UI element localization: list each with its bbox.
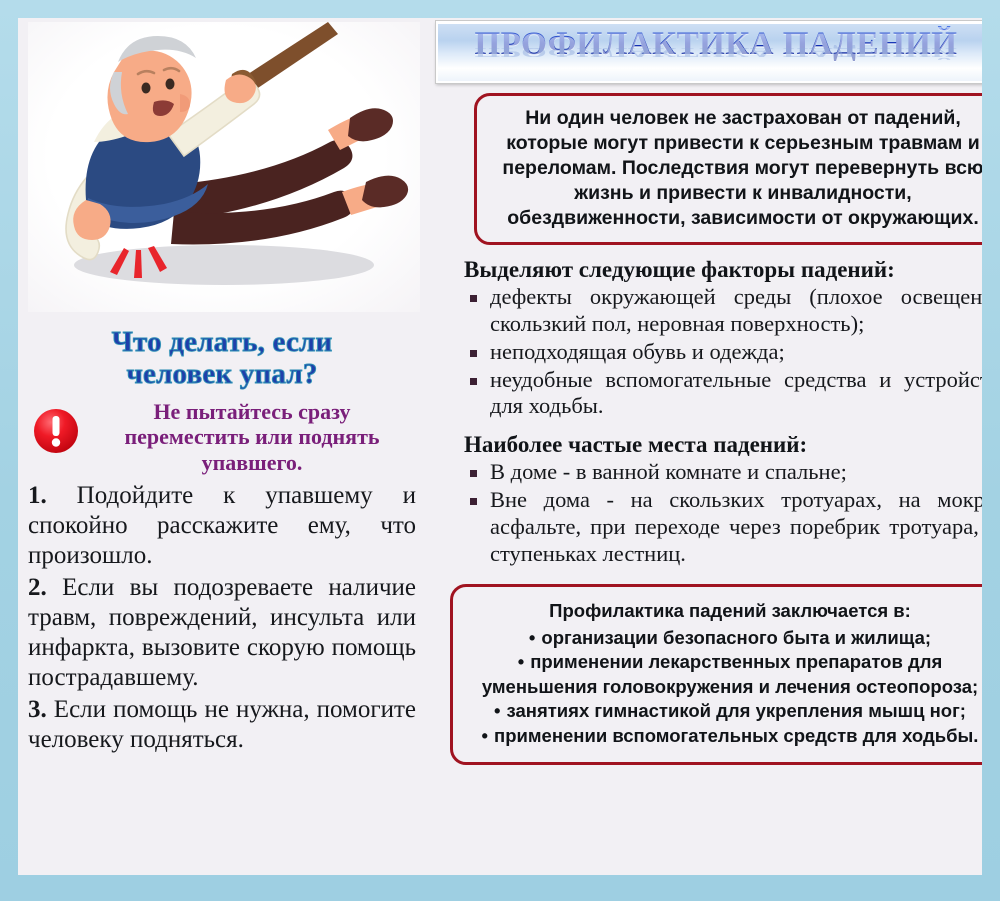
prevention-item: •применении вспомогательных средств для … — [463, 724, 982, 748]
factors-list: дефекты окружающей среды (плохое освещен… — [464, 284, 982, 420]
prevention-item: •применении лекарственных препаратов для… — [463, 650, 982, 699]
warning-text: Не пытайтесь сразу переместить или подня… — [88, 399, 416, 476]
prevention-item-text: организации безопасного быта и жилища; — [541, 627, 931, 648]
step-number: 1. — [28, 482, 47, 509]
step-text: Если помощь не нужна, помогите человеку … — [28, 696, 416, 753]
step-text: Подойдите к упавшему и спокойно расскажи… — [28, 482, 416, 569]
list-item: В доме - в ванной комнате и спальне; — [464, 459, 982, 486]
step-number: 3. — [28, 696, 47, 723]
intro-text: Ни один человек не застрахован от падени… — [491, 106, 982, 231]
bullet-marker: • — [482, 724, 488, 748]
bullet-marker: • — [529, 626, 535, 650]
poster-frame: Что делать, если человек упал? — [0, 0, 1000, 901]
step-text: Если вы подозреваете наличие травм, повр… — [28, 574, 416, 691]
left-column: Что делать, если человек упал? — [18, 18, 430, 875]
places-section: Наиболее частые места падений: В доме - … — [464, 432, 982, 568]
prevention-heading: Профилактика падений заключается в: — [463, 599, 982, 623]
step-item: 2. Если вы подозреваете наличие травм, п… — [28, 573, 416, 693]
what-title-line2: человек упал? — [126, 358, 317, 390]
prevention-item-text: применении вспомогательных средств для х… — [494, 725, 978, 746]
prevention-item: •занятиях гимнастикой для укрепления мыш… — [463, 699, 982, 723]
warning-line3: упавшего. — [202, 450, 303, 475]
bullet-marker: • — [518, 650, 524, 674]
prevention-callout-box: Профилактика падений заключается в: •орг… — [450, 584, 982, 765]
prevention-item-text: применении лекарственных препаратов для … — [482, 651, 978, 696]
page-subtitle: Что делать, если человек упал? — [28, 326, 416, 391]
places-list: В доме - в ванной комнате и спальне; Вне… — [464, 459, 982, 567]
steps-list: 1. Подойдите к упавшему и спокойно расск… — [28, 481, 416, 755]
what-title-line1: Что делать, если — [112, 326, 333, 358]
falling-man-illustration — [28, 22, 420, 312]
prevention-item: •организации безопасного быта и жилища; — [463, 626, 982, 650]
list-item: неудобные вспомогательные средства и уст… — [464, 367, 982, 421]
step-item: 3. Если помощь не нужна, помогите челове… — [28, 695, 416, 755]
warning-block: Не пытайтесь сразу переместить или подня… — [28, 399, 416, 476]
places-heading: Наиболее частые места падений: — [464, 432, 982, 458]
bullet-marker: • — [494, 699, 500, 723]
factors-heading: Выделяют следующие факторы падений: — [464, 257, 982, 283]
poster-sheet: Что делать, если человек упал? — [18, 18, 982, 875]
list-item: неподходящая обувь и одежда; — [464, 339, 982, 366]
warning-line2: переместить или поднять — [124, 424, 379, 449]
warning-line1: Не пытайтесь сразу — [153, 399, 350, 424]
page-title-plate: ПРОФИЛАКТИКА ПАДЕНИЙ ПРОФИЛАКТИКА ПАДЕНИ… — [436, 21, 982, 83]
step-number: 2. — [28, 574, 47, 601]
list-item: Вне дома - на скользких тротуарах, на мо… — [464, 487, 982, 567]
list-item: дефекты окружающей среды (плохое освещен… — [464, 284, 982, 338]
exclamation-circle-icon — [32, 407, 80, 455]
page-title: ПРОФИЛАКТИКА ПАДЕНИЙ — [438, 26, 982, 63]
intro-callout-box: Ни один человек не застрахован от падени… — [474, 93, 982, 245]
step-item: 1. Подойдите к упавшему и спокойно расск… — [28, 481, 416, 571]
factors-section: Выделяют следующие факторы падений: дефе… — [464, 257, 982, 420]
right-column: ПРОФИЛАКТИКА ПАДЕНИЙ ПРОФИЛАКТИКА ПАДЕНИ… — [430, 18, 982, 875]
prevention-item-text: занятиях гимнастикой для укрепления мышц… — [507, 700, 966, 721]
